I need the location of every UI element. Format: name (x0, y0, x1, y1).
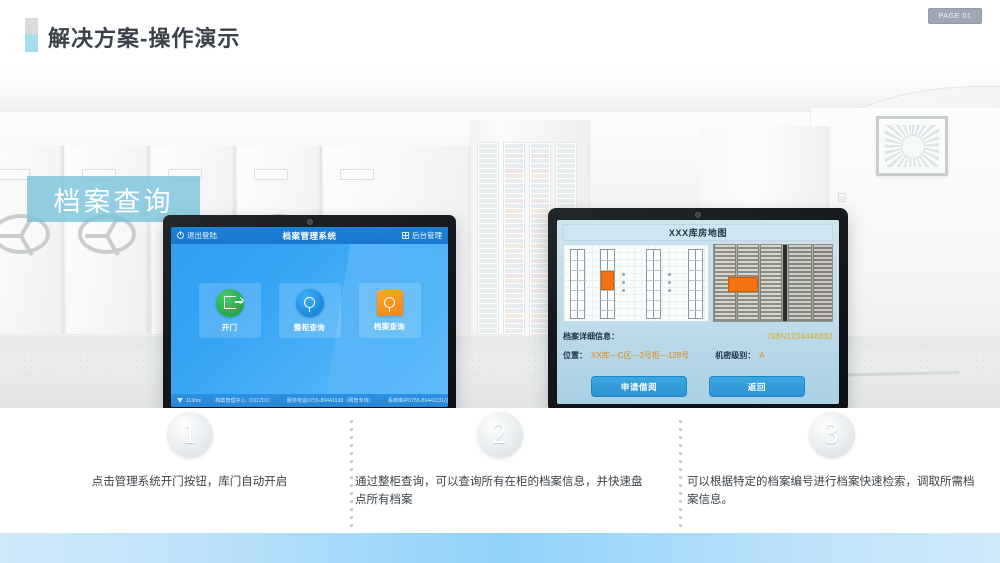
map-schematic[interactable] (563, 244, 709, 322)
cabinet-search-icon (296, 289, 324, 317)
back-button[interactable]: 返回 (709, 376, 805, 397)
schematic-rack[interactable] (646, 249, 661, 319)
status-device: 档案管理中心（011201） (215, 397, 273, 404)
schematic-highlight (601, 271, 614, 290)
detail-code: ISBN1234448833 (767, 332, 833, 341)
app-title: 档案管理系统 (171, 230, 448, 242)
tile-label: 开门 (222, 322, 238, 333)
location-row: 位置： XX库—C区—3号柜—128号 机密级别： A (563, 346, 833, 365)
label-holder-icon (0, 169, 30, 180)
label-holder-icon (254, 169, 288, 180)
rack-marker-icon: ⌸ (838, 190, 850, 206)
step-number-badge: 1 (167, 412, 213, 458)
tile-file-query[interactable]: 档案查询 (359, 283, 421, 338)
tablet-warehouse-map[interactable]: XXX库房地图 (548, 208, 848, 408)
floor-texture (0, 336, 1000, 408)
camera-icon (695, 212, 701, 218)
step-3: 3 可以根据特定的档案编号进行档案快速检索，调取所需档案信息。 (665, 412, 998, 510)
step-description: 通过整柜查询，可以查询所有在柜的档案信息，并快速盘点所有档案 (333, 474, 666, 510)
tile-label: 整柜查询 (294, 322, 325, 333)
location-label: 位置： (563, 350, 587, 361)
status-support: 系统维护0755-89441131(技支部) (388, 397, 448, 404)
status-hotline: 服务电话0755-89441138（网管专线） (287, 397, 374, 404)
framed-artwork (876, 116, 948, 176)
apply-borrow-button[interactable]: 申请借阅 (591, 376, 687, 397)
slide-header: 解决方案-操作演示 PAGE 01 (0, 0, 1000, 68)
detail-row: 档案详细信息： ISBN1234448833 (563, 327, 833, 346)
footer-accent-bar (0, 533, 1000, 563)
step-number-badge: 3 (809, 412, 855, 458)
step-1: 1 点击管理系统开门按钮，库门自动开启 (23, 412, 356, 492)
map-action-buttons: 申请借阅 返回 (563, 376, 833, 398)
tile-cabinet-query[interactable]: 整柜查询 (279, 283, 341, 338)
ceiling-band (0, 68, 1000, 112)
tablet-right-screen[interactable]: XXX库房地图 (557, 220, 839, 404)
ellipsis-icon (668, 273, 671, 297)
camera-icon (307, 219, 313, 225)
shelf-block (760, 245, 782, 321)
section-banner-label: 档案查询 (54, 180, 174, 219)
tile-label: 档案查询 (374, 321, 405, 332)
shelf-block (813, 245, 833, 321)
shelf-block (788, 245, 812, 321)
file-detail-info: 档案详细信息： ISBN1234448833 位置： XX库—C区—3号柜—12… (563, 327, 833, 365)
schematic-rack[interactable] (688, 249, 703, 319)
step-description: 点击管理系统开门按钮，库门自动开启 (23, 474, 356, 492)
file-search-icon (377, 290, 403, 316)
location-value: XX库—C区—3号柜—128号 (591, 350, 689, 361)
fan-pattern-icon (885, 125, 939, 167)
step-number-badge: 2 (477, 412, 523, 458)
shelf-aisle (783, 245, 787, 321)
archive-room-photo: ⌸ ⌸ 档案查询 退出登陆 档案管理系统 后台管理 (0, 68, 1000, 408)
steps-section: 1 点击管理系统开门按钮，库门自动开启 2 通过整柜查询，可以查询所有在柜的档案… (0, 408, 1000, 533)
secrecy-label: 机密级别： (715, 350, 755, 361)
map-title: XXX库房地图 (563, 224, 833, 241)
title-accent-bar-icon (25, 18, 38, 52)
page-title: 解决方案-操作演示 (48, 21, 240, 53)
warehouse-map[interactable] (563, 244, 833, 322)
schematic-rack[interactable] (570, 249, 585, 319)
label-holder-icon (340, 169, 374, 180)
tablet-archive-management-system[interactable]: 退出登陆 档案管理系统 后台管理 开门 整柜查询 (163, 215, 456, 408)
status-latency: 113ms (186, 398, 201, 404)
map-photo-view[interactable] (713, 244, 833, 322)
tablet-left-screen[interactable]: 退出登陆 档案管理系统 后台管理 开门 整柜查询 (171, 227, 448, 407)
app-topbar: 退出登陆 档案管理系统 后台管理 (171, 227, 448, 244)
action-tiles: 开门 整柜查询 档案查询 (171, 283, 448, 338)
ellipsis-icon (622, 273, 625, 297)
page-number-badge: PAGE 01 (928, 8, 982, 24)
step-2: 2 通过整柜查询，可以查询所有在柜的档案信息，并快速盘点所有档案 (333, 412, 666, 510)
step-description: 可以根据特定的档案编号进行档案快速检索，调取所需档案信息。 (665, 474, 998, 510)
app-status-bar: 113ms 档案管理中心（011201） 服务电话0755-89441138（网… (171, 394, 448, 407)
photo-highlight (728, 277, 758, 292)
detail-label: 档案详细信息： (563, 331, 619, 342)
tile-open-door[interactable]: 开门 (199, 283, 261, 338)
secrecy-value: A (759, 351, 764, 360)
wifi-icon (177, 398, 183, 403)
door-open-icon (216, 289, 244, 317)
floor (0, 336, 1000, 408)
